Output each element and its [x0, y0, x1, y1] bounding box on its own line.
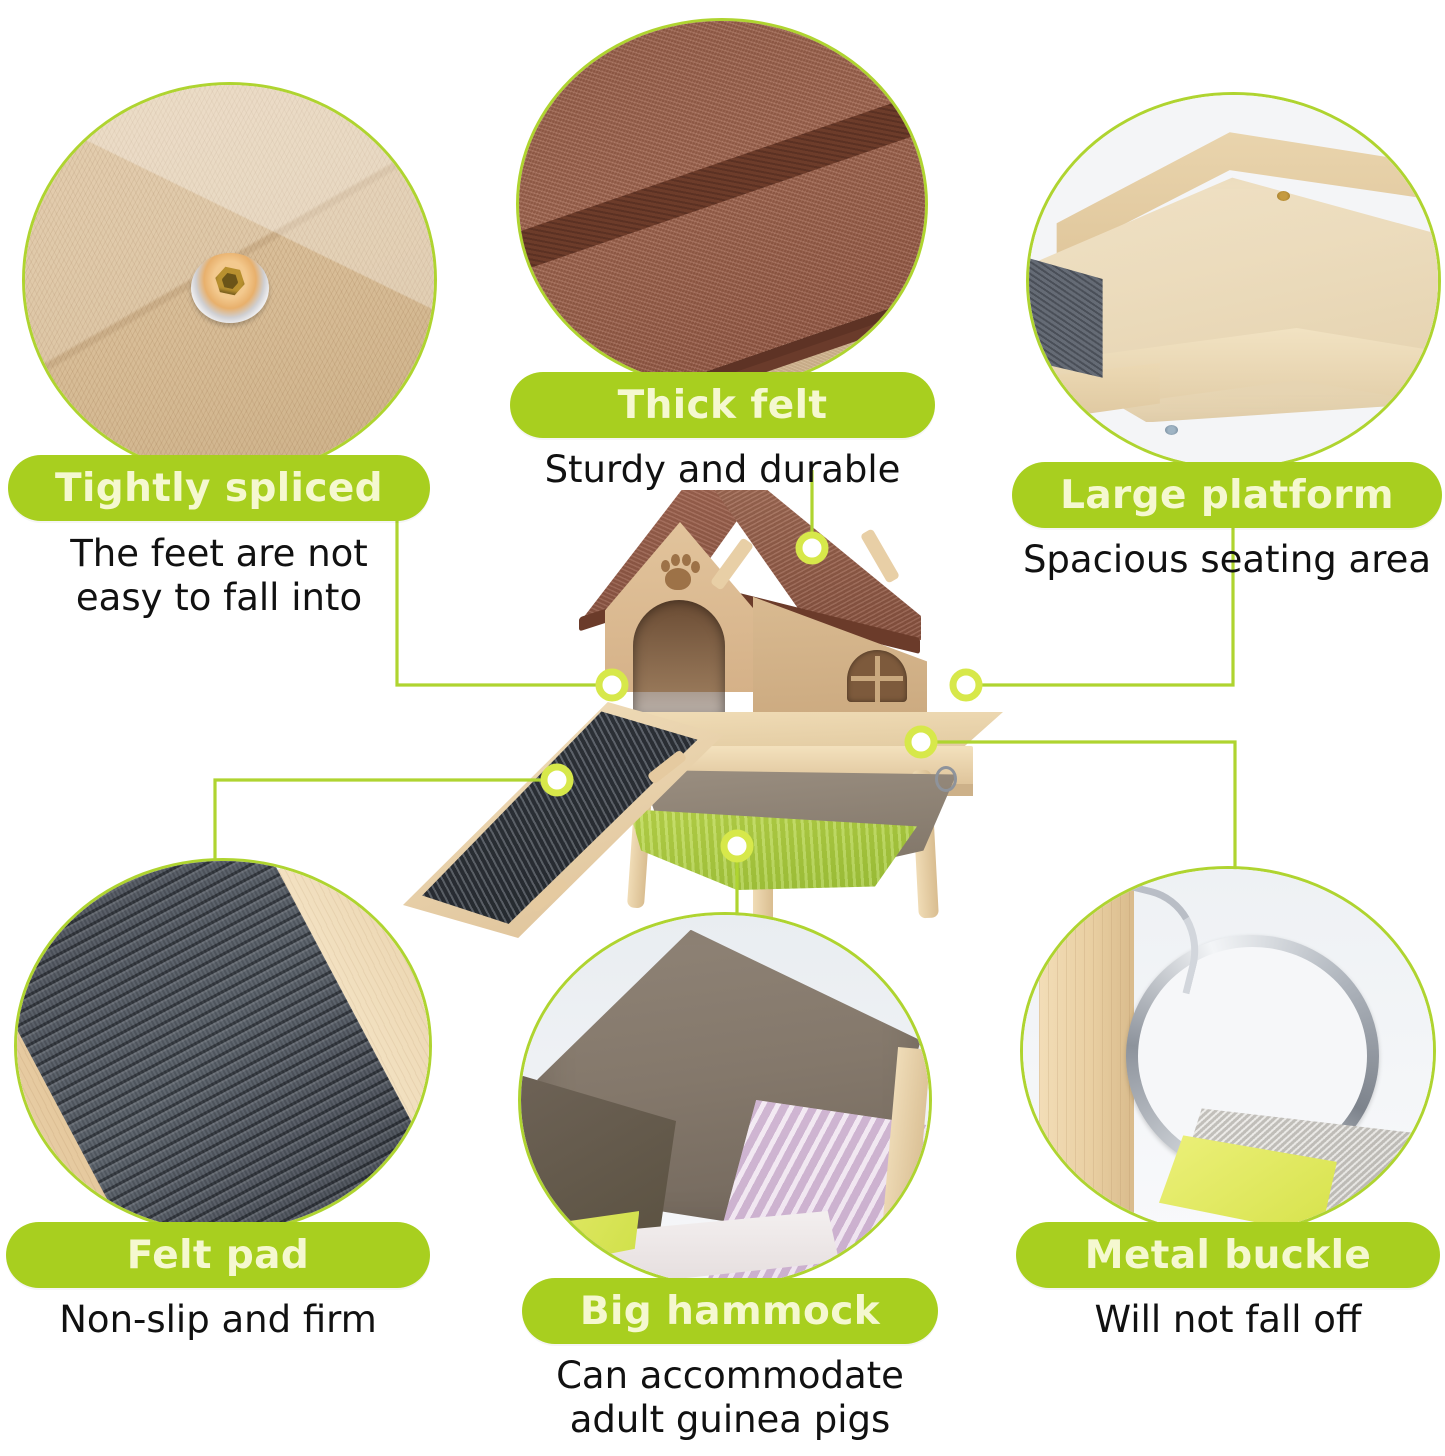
badge-thick-felt[interactable]: Thick felt — [510, 372, 935, 438]
badge-label-thick-felt: Thick felt — [612, 386, 834, 425]
hammock-metal-buckle-icon — [935, 766, 957, 792]
infographic-canvas: Tightly spliced The feet are not easy to… — [0, 0, 1445, 1456]
platform-screw-icon — [1277, 191, 1290, 201]
feature-photo-large-platform[interactable] — [1026, 92, 1441, 470]
ramp — [403, 702, 723, 938]
subtitle-big-hammock: Can accommodate adult guinea pigs — [498, 1354, 962, 1441]
badge-label-tightly-spliced: Tightly spliced — [49, 469, 389, 508]
badge-label-large-platform: Large platform — [1054, 476, 1400, 515]
house-window — [847, 650, 907, 702]
arched-doorway — [633, 600, 725, 718]
paw-print-cutout-icon — [657, 552, 699, 594]
subtitle-tightly-spliced: The feet are not easy to fall into — [8, 532, 430, 619]
ramp-felt-pad — [403, 702, 723, 938]
subtitle-metal-buckle: Will not fall off — [1016, 1298, 1440, 1342]
badge-label-metal-buckle: Metal buckle — [1079, 1236, 1378, 1275]
badge-felt-pad[interactable]: Felt pad — [6, 1222, 430, 1288]
badge-label-felt-pad: Felt pad — [121, 1236, 315, 1275]
badge-metal-buckle[interactable]: Metal buckle — [1016, 1222, 1440, 1288]
badge-big-hammock[interactable]: Big hammock — [522, 1278, 938, 1344]
feature-photo-thick-felt[interactable] — [516, 18, 928, 390]
badge-tightly-spliced[interactable]: Tightly spliced — [8, 455, 430, 521]
platform-screw-icon-2 — [1165, 425, 1178, 435]
subtitle-thick-felt: Sturdy and durable — [510, 448, 935, 492]
feature-photo-metal-buckle[interactable] — [1020, 866, 1436, 1236]
feature-photo-felt-pad[interactable] — [14, 858, 432, 1234]
product-illustration — [395, 470, 1005, 990]
feature-photo-big-hammock[interactable] — [518, 912, 932, 1288]
subtitle-large-platform: Spacious seating area — [1012, 538, 1442, 582]
badge-large-platform[interactable]: Large platform — [1012, 462, 1442, 528]
badge-label-big-hammock: Big hammock — [574, 1292, 886, 1331]
subtitle-felt-pad: Non-slip and firm — [6, 1298, 430, 1342]
feature-photo-tightly-spliced[interactable] — [22, 82, 437, 478]
metal-screw-icon — [191, 253, 269, 323]
